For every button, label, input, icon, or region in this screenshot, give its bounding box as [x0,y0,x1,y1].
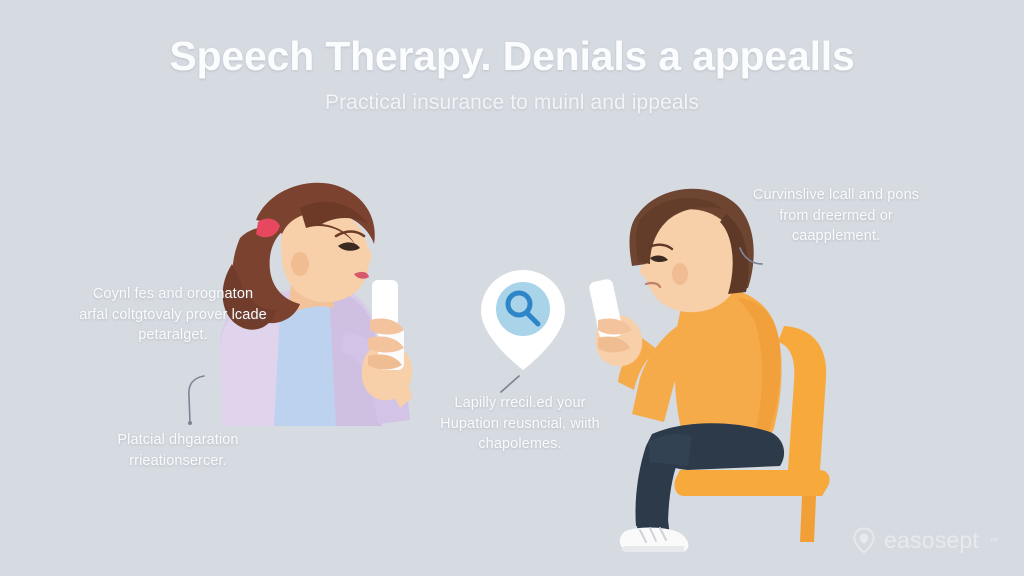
page-title: Speech Therapy. Denials a appealls [0,34,1024,79]
connector-left [178,372,218,428]
header-block: Speech Therapy. Denials a appealls Pract… [0,34,1024,115]
location-pin-icon [853,527,875,554]
brand-watermark: easosept ™ [853,527,998,554]
map-pin-search-icon [472,268,574,372]
map-pin-search-svg [472,268,574,372]
annotation-center-lower: Lapilly rrecil.ed your Hupation reusncia… [432,393,608,455]
illustration-canvas: Speech Therapy. Denials a appealls Pract… [0,0,1024,576]
trademark-symbol: ™ [989,536,998,546]
annotation-right-upper: Curvinslive lcall and pons from dreermed… [752,185,920,247]
connector-right [736,244,772,270]
annotation-left-upper: Coynl fes and orognaton arfal coltgtoval… [78,284,268,346]
annotation-left-lower: Platcial dhgaration rrieationsercer. [78,430,278,471]
page-subtitle: Practical insurance to muinl and ippeals [0,91,1024,115]
brand-name: easosept [884,527,979,554]
